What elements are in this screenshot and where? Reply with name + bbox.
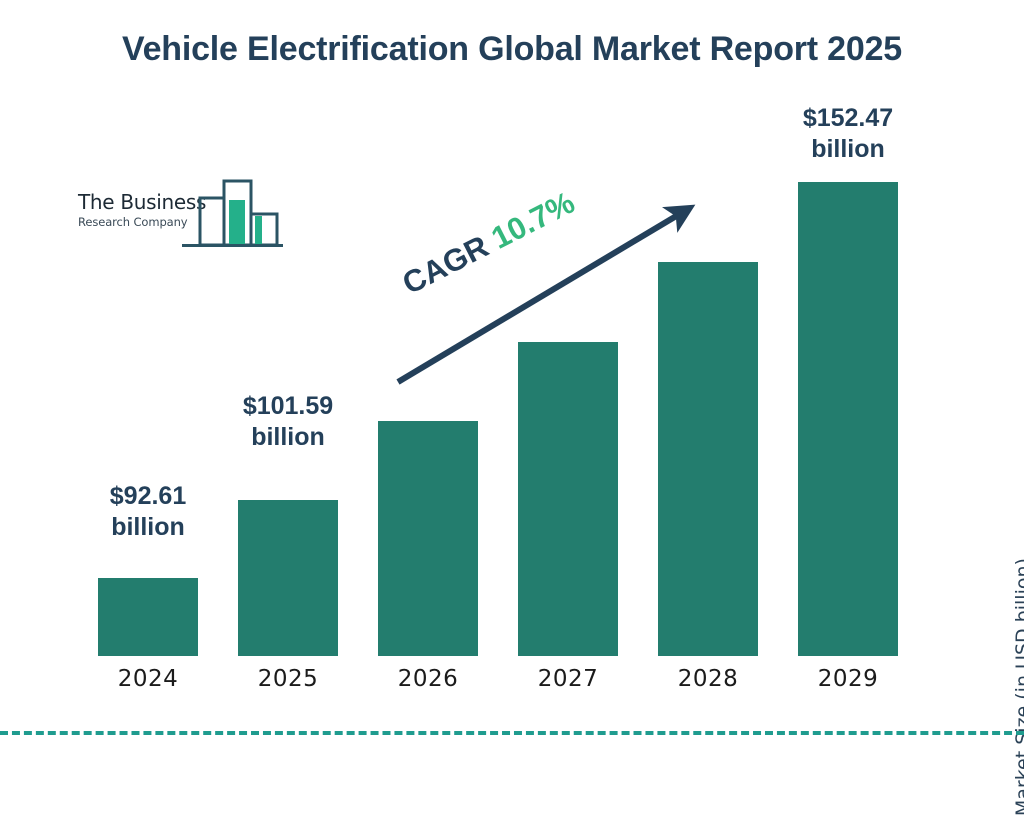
y-axis-title: Market Size (in USD billion) <box>1012 558 1024 816</box>
x-tick-2025: 2025 <box>238 666 338 692</box>
bar-2026 <box>378 421 478 656</box>
x-tick-2024: 2024 <box>98 666 198 692</box>
x-tick-2026: 2026 <box>378 666 478 692</box>
value-amount-2024: $92.61 <box>88 481 208 512</box>
value-label-2025: $101.59 billion <box>218 391 358 454</box>
x-tick-2027: 2027 <box>518 666 618 692</box>
value-label-2029: $152.47 billion <box>778 103 918 166</box>
x-tick-2028: 2028 <box>658 666 758 692</box>
footer-divider <box>0 731 1024 735</box>
value-label-2024: $92.61 billion <box>88 481 208 544</box>
bar-2029 <box>798 182 898 656</box>
bar-2024 <box>98 578 198 656</box>
value-amount-2025: $101.59 <box>218 391 358 422</box>
value-unit-2029: billion <box>778 134 918 165</box>
bar-2025 <box>238 500 338 656</box>
value-unit-2024: billion <box>88 512 208 543</box>
x-tick-2029: 2029 <box>798 666 898 692</box>
value-amount-2029: $152.47 <box>778 103 918 134</box>
value-unit-2025: billion <box>218 422 358 453</box>
